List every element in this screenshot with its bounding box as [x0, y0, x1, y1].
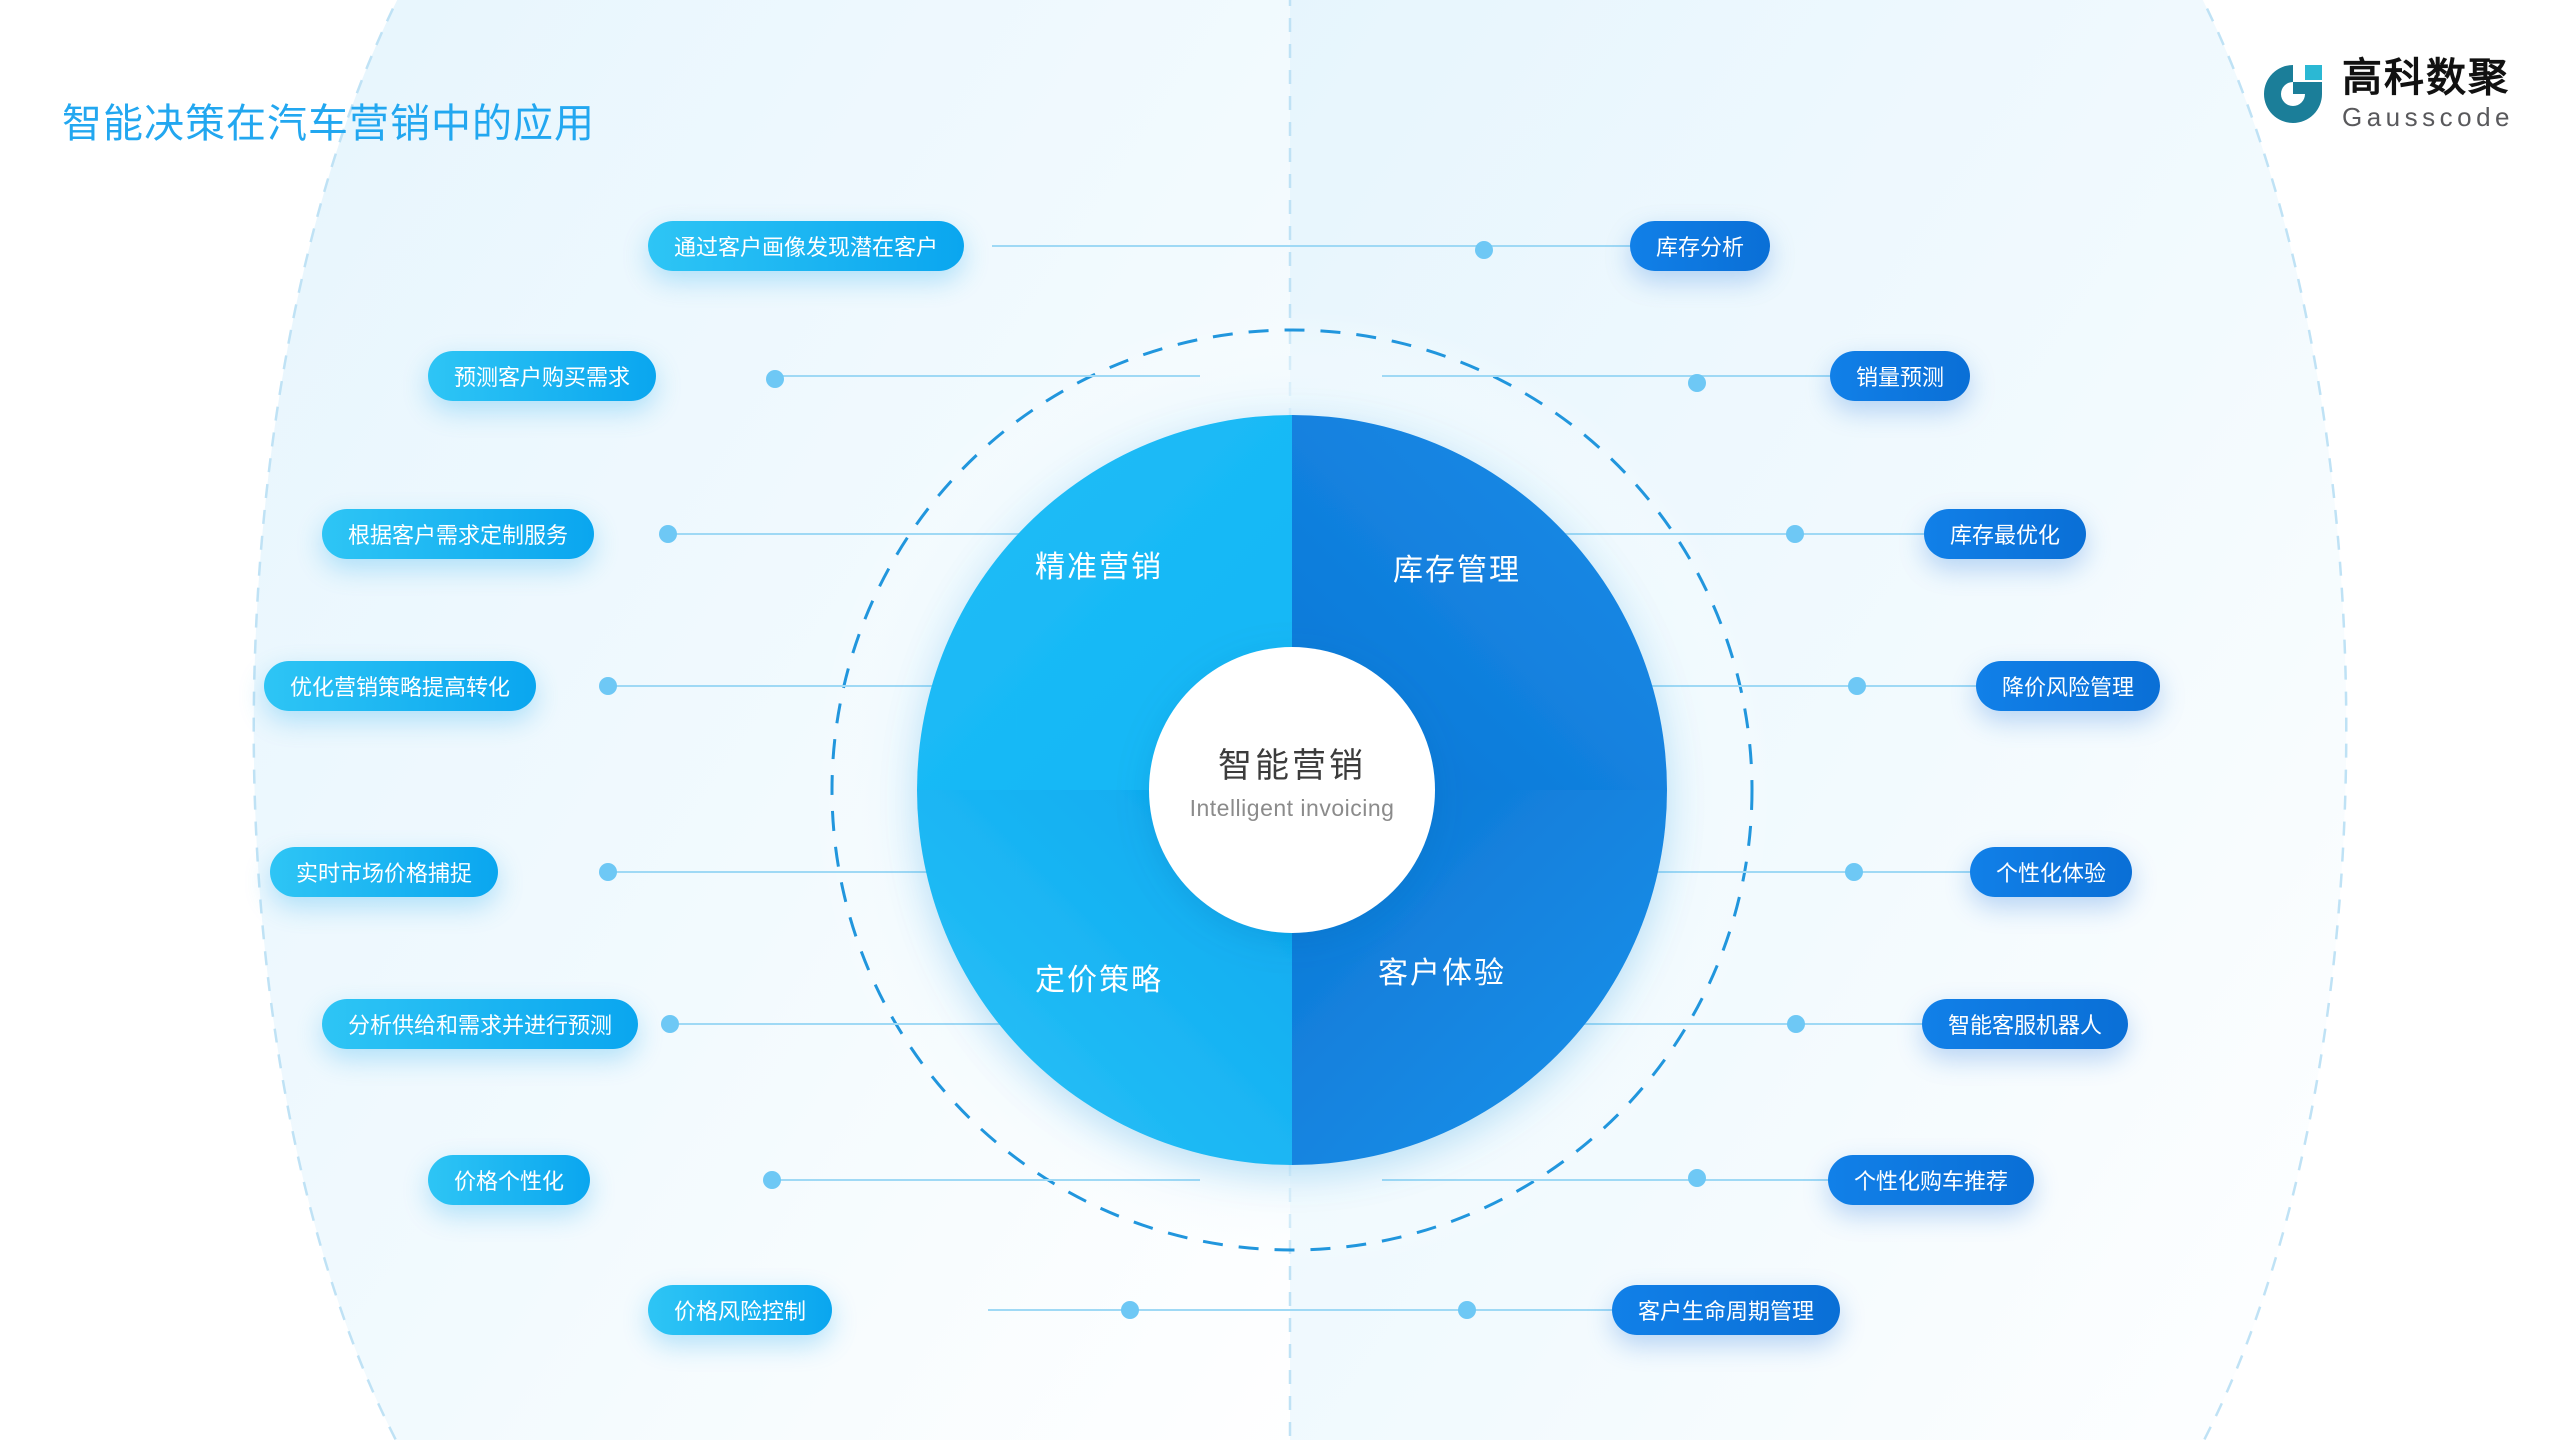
left-item-3[interactable]: 优化营销策略提高转化	[264, 661, 536, 711]
page-title: 智能决策在汽车营销中的应用	[62, 104, 595, 144]
core-title: 智能营销	[1218, 738, 1366, 787]
right-item-7[interactable]: 客户生命周期管理	[1612, 1285, 1840, 1335]
left-item-4[interactable]: 实时市场价格捕捉	[270, 847, 498, 897]
brand-logo: 高科数聚 Gausscode	[2260, 58, 2514, 130]
diagram-canvas: 智能决策在汽车营销中的应用 高科数聚 Gausscode 精准营销 库存管理 定…	[0, 0, 2560, 1440]
right-item-2[interactable]: 库存最优化	[1924, 509, 2086, 559]
quadrant-label-pricing-strategy: 定价策略	[1035, 955, 1163, 999]
quadrant-label-precision-marketing: 精准营销	[1035, 542, 1163, 586]
right-item-5[interactable]: 智能客服机器人	[1922, 999, 2128, 1049]
gausscode-logo-mark-icon	[2260, 61, 2326, 127]
quadrant-label-customer-experience: 客户体验	[1378, 948, 1506, 992]
core-subtitle: Intelligent invoicing	[1190, 795, 1395, 822]
right-item-4[interactable]: 个性化体验	[1970, 847, 2132, 897]
left-item-5[interactable]: 分析供给和需求并进行预测	[322, 999, 638, 1049]
diagram-core-layer	[0, 0, 2560, 1440]
left-item-6[interactable]: 价格个性化	[428, 1155, 590, 1205]
logo-name-cn: 高科数聚	[2342, 58, 2514, 98]
left-item-7[interactable]: 价格风险控制	[648, 1285, 832, 1335]
right-item-6[interactable]: 个性化购车推荐	[1828, 1155, 2034, 1205]
right-item-0[interactable]: 库存分析	[1630, 221, 1770, 271]
left-item-0[interactable]: 通过客户画像发现潜在客户	[648, 221, 964, 271]
left-item-1[interactable]: 预测客户购买需求	[428, 351, 656, 401]
core-inner-circle	[1149, 647, 1435, 933]
logo-wordmark: 高科数聚 Gausscode	[2342, 58, 2514, 130]
left-item-2[interactable]: 根据客户需求定制服务	[322, 509, 594, 559]
right-item-3[interactable]: 降价风险管理	[1976, 661, 2160, 711]
quadrant-label-inventory-management: 库存管理	[1393, 545, 1521, 589]
right-item-1[interactable]: 销量预测	[1830, 351, 1970, 401]
logo-name-en: Gausscode	[2342, 104, 2514, 130]
